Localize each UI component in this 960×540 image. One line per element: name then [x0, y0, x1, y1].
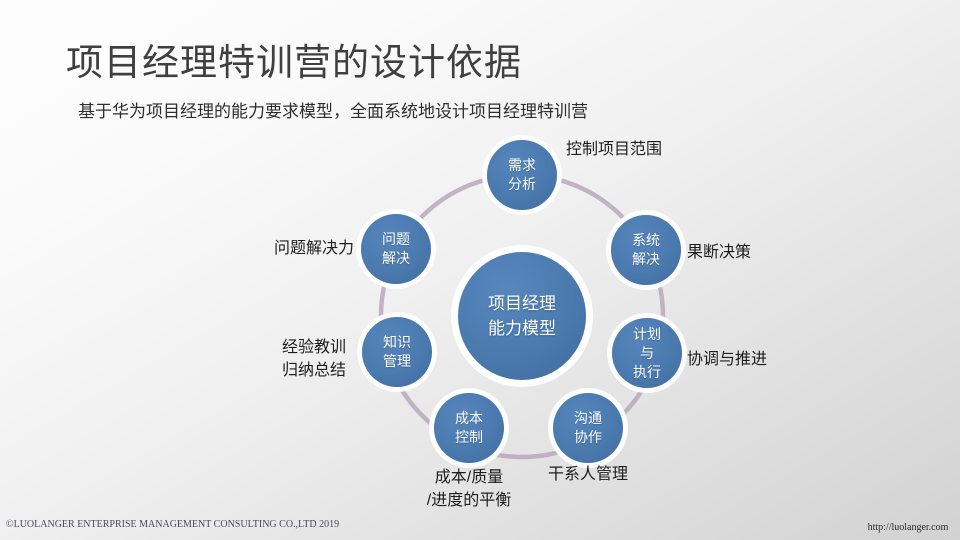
slide-canvas: 项目经理特训营的设计依据 基于华为项目经理的能力要求模型，全面系统地设计项目经理… — [0, 0, 960, 540]
node-label: 知识 管理 — [383, 333, 411, 371]
node-communication-collaboration[interactable]: 沟通 协作 — [553, 393, 623, 463]
node-plan-and-execute[interactable]: 计划 与 执行 — [612, 318, 682, 388]
node-requirement-analysis[interactable]: 需求 分析 — [487, 140, 557, 210]
node-cost-control[interactable]: 成本 控制 — [434, 393, 504, 463]
label-problem-solving-ability: 问题解决力 — [264, 237, 354, 260]
center-node[interactable]: 项目经理 能力模型 — [458, 252, 586, 380]
node-problem-solving[interactable]: 问题 解决 — [361, 214, 431, 284]
center-node-label: 项目经理 能力模型 — [488, 291, 556, 341]
node-label: 计划 与 执行 — [633, 325, 661, 382]
footer-url[interactable]: http://luolanger.com — [866, 522, 950, 534]
node-knowledge-management[interactable]: 知识 管理 — [362, 317, 432, 387]
label-lessons-learned-summary: 经验教训 归纳总结 — [274, 336, 346, 382]
node-label: 问题 解决 — [382, 230, 410, 268]
footer-copyright: ©LUOLANGER ENTERPRISE MANAGEMENT CONSULT… — [6, 518, 339, 531]
node-label: 沟通 协作 — [574, 409, 602, 447]
label-decisive-decision: 果断决策 — [687, 241, 751, 264]
label-control-project-scope: 控制项目范围 — [566, 138, 662, 161]
node-system-solution[interactable]: 系统 解决 — [611, 215, 681, 285]
node-label: 成本 控制 — [455, 409, 483, 447]
capability-model-diagram: 项目经理 能力模型 需求 分析 系统 解决 计划 与 执行 沟通 协作 成本 控… — [0, 0, 960, 540]
label-coordination-and-promotion: 协调与推进 — [687, 348, 767, 371]
node-label: 需求 分析 — [508, 156, 536, 194]
node-label: 系统 解决 — [632, 231, 660, 269]
label-cost-quality-schedule-balance: 成本/质量 /进度的平衡 — [389, 466, 549, 512]
